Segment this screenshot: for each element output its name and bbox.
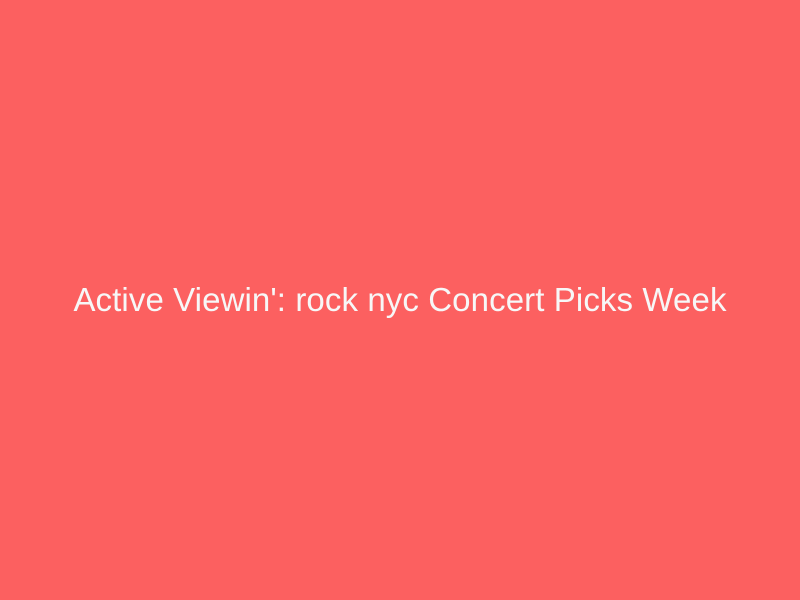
image-placeholder-card: Active Viewin': rock nyc Concert Picks W… bbox=[0, 0, 800, 600]
page-title: Active Viewin': rock nyc Concert Picks W… bbox=[20, 280, 780, 320]
